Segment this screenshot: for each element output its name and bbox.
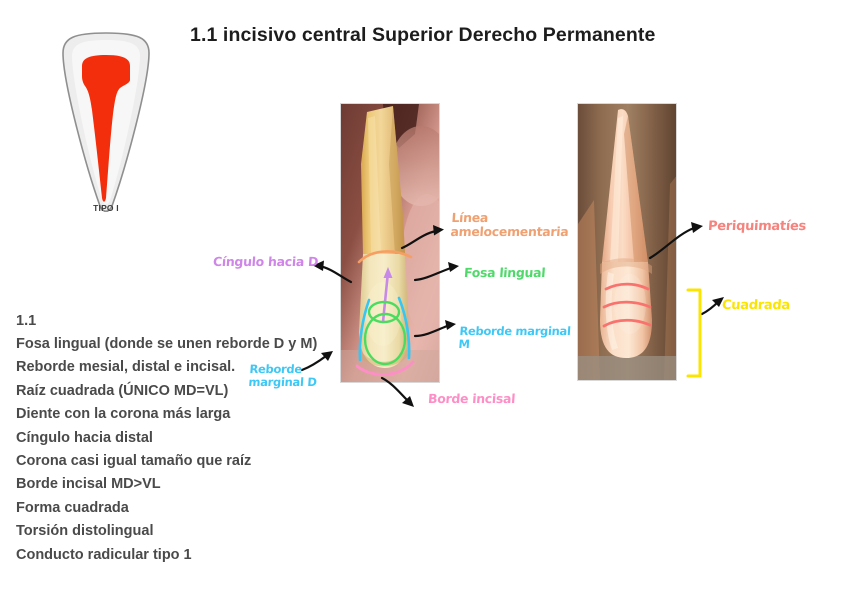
annotation-cuadrada: Cuadrada xyxy=(721,299,790,314)
annotation-reborde-marginal-d: Reborde marginal D xyxy=(248,363,318,389)
page-title: 1.1 incisivo central Superior Derecho Pe… xyxy=(190,24,655,47)
list-item: Fosa lingual (donde se unen reborde D y … xyxy=(16,333,316,356)
base-shadow xyxy=(578,356,677,381)
list-item: Corona casi igual tamaño que raíz xyxy=(16,450,316,473)
characteristics-number: 1.1 xyxy=(16,310,316,333)
list-item: Conducto radicular tipo 1 xyxy=(16,544,316,567)
annotation-fosa-lingual: Fosa lingual xyxy=(464,266,546,280)
characteristics-list: 1.1 Fosa lingual (donde se unen reborde … xyxy=(16,310,316,567)
list-item: Cíngulo hacia distal xyxy=(16,427,316,450)
root-canal-caption: TIPO I xyxy=(46,203,166,213)
list-item: Torsión distolingual xyxy=(16,520,316,543)
list-item: Borde incisal MD>VL xyxy=(16,473,316,496)
annotation-borde-incisal: Borde incisal xyxy=(428,392,516,406)
annotation-reborde-marginal-m: Reborde marginal M xyxy=(458,325,571,351)
root-canal-type-i-diagram xyxy=(46,22,166,222)
tooth-photo-facial-view xyxy=(577,103,677,381)
root-extent-bracket xyxy=(686,288,704,378)
annotation-periquimaties: Periquimatíes xyxy=(707,220,806,235)
list-item: Diente con la corona más larga xyxy=(16,403,316,426)
annotation-linea-amelocementaria: Línea amelocementaria xyxy=(450,211,570,239)
tooth-photo-lingual-view xyxy=(340,103,440,383)
annotation-cingulo-hacia-d: Cíngulo hacia D xyxy=(213,255,319,269)
list-item: Forma cuadrada xyxy=(16,497,316,520)
